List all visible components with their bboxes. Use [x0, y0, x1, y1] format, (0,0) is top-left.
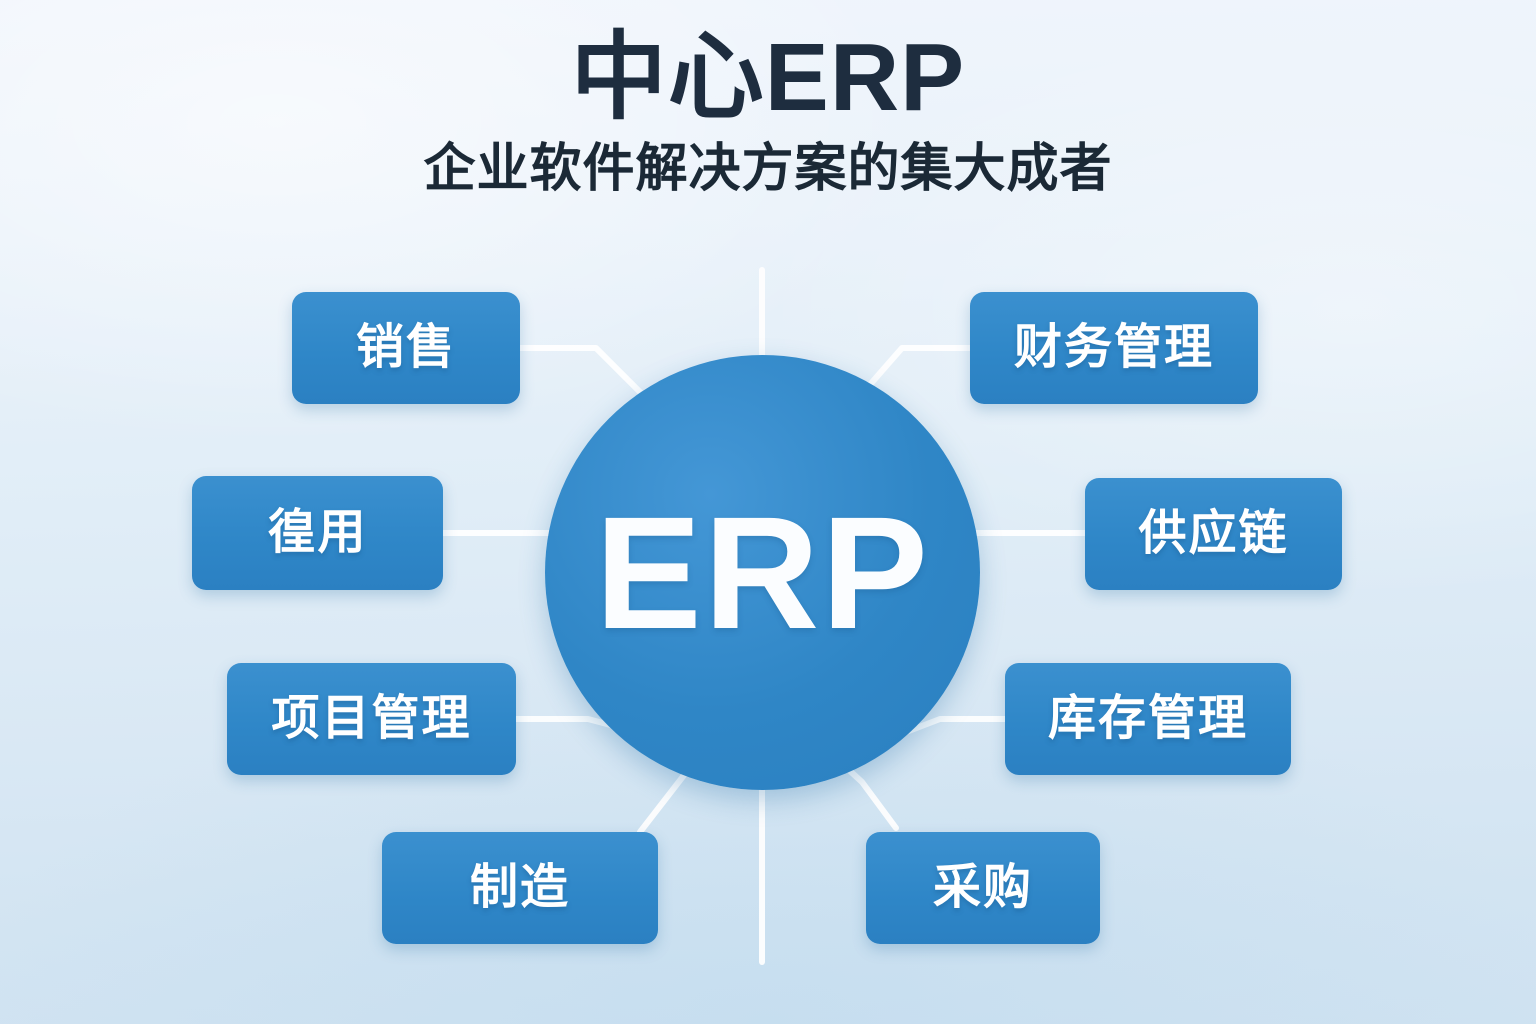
node-manufacturing[interactable]: 制造	[382, 832, 658, 944]
node-label: 供应链	[1138, 510, 1288, 558]
node-finance-management[interactable]: 财务管理	[970, 292, 1258, 404]
node-sales[interactable]: 销售	[292, 292, 520, 404]
center-hub-label: ERP	[595, 493, 930, 653]
node-label: 采购	[933, 864, 1033, 912]
page-subtitle: 企业软件解决方案的集大成者	[0, 132, 1536, 200]
node-project-management[interactable]: 项目管理	[227, 663, 516, 775]
node-label: 销售	[356, 324, 456, 372]
node-label: 项目管理	[271, 695, 471, 743]
node-hr[interactable]: 徨用	[192, 476, 443, 590]
node-label: 制造	[470, 864, 570, 912]
node-procurement[interactable]: 采购	[866, 832, 1100, 944]
node-label: 库存管理	[1048, 695, 1248, 743]
header: 中心ERP 企业软件解决方案的集大成者	[0, 0, 1536, 199]
node-label: 财务管理	[1014, 324, 1214, 372]
node-supply-chain[interactable]: 供应链	[1085, 478, 1342, 590]
node-inventory-management[interactable]: 库存管理	[1005, 663, 1291, 775]
erp-diagram-canvas: 中心ERP 企业软件解决方案的集大成者 ERP 销售 徨用 项目管理	[0, 0, 1536, 1024]
page-title: 中心ERP	[0, 0, 1536, 132]
node-label: 徨用	[267, 509, 367, 557]
center-hub[interactable]: ERP	[545, 355, 980, 790]
